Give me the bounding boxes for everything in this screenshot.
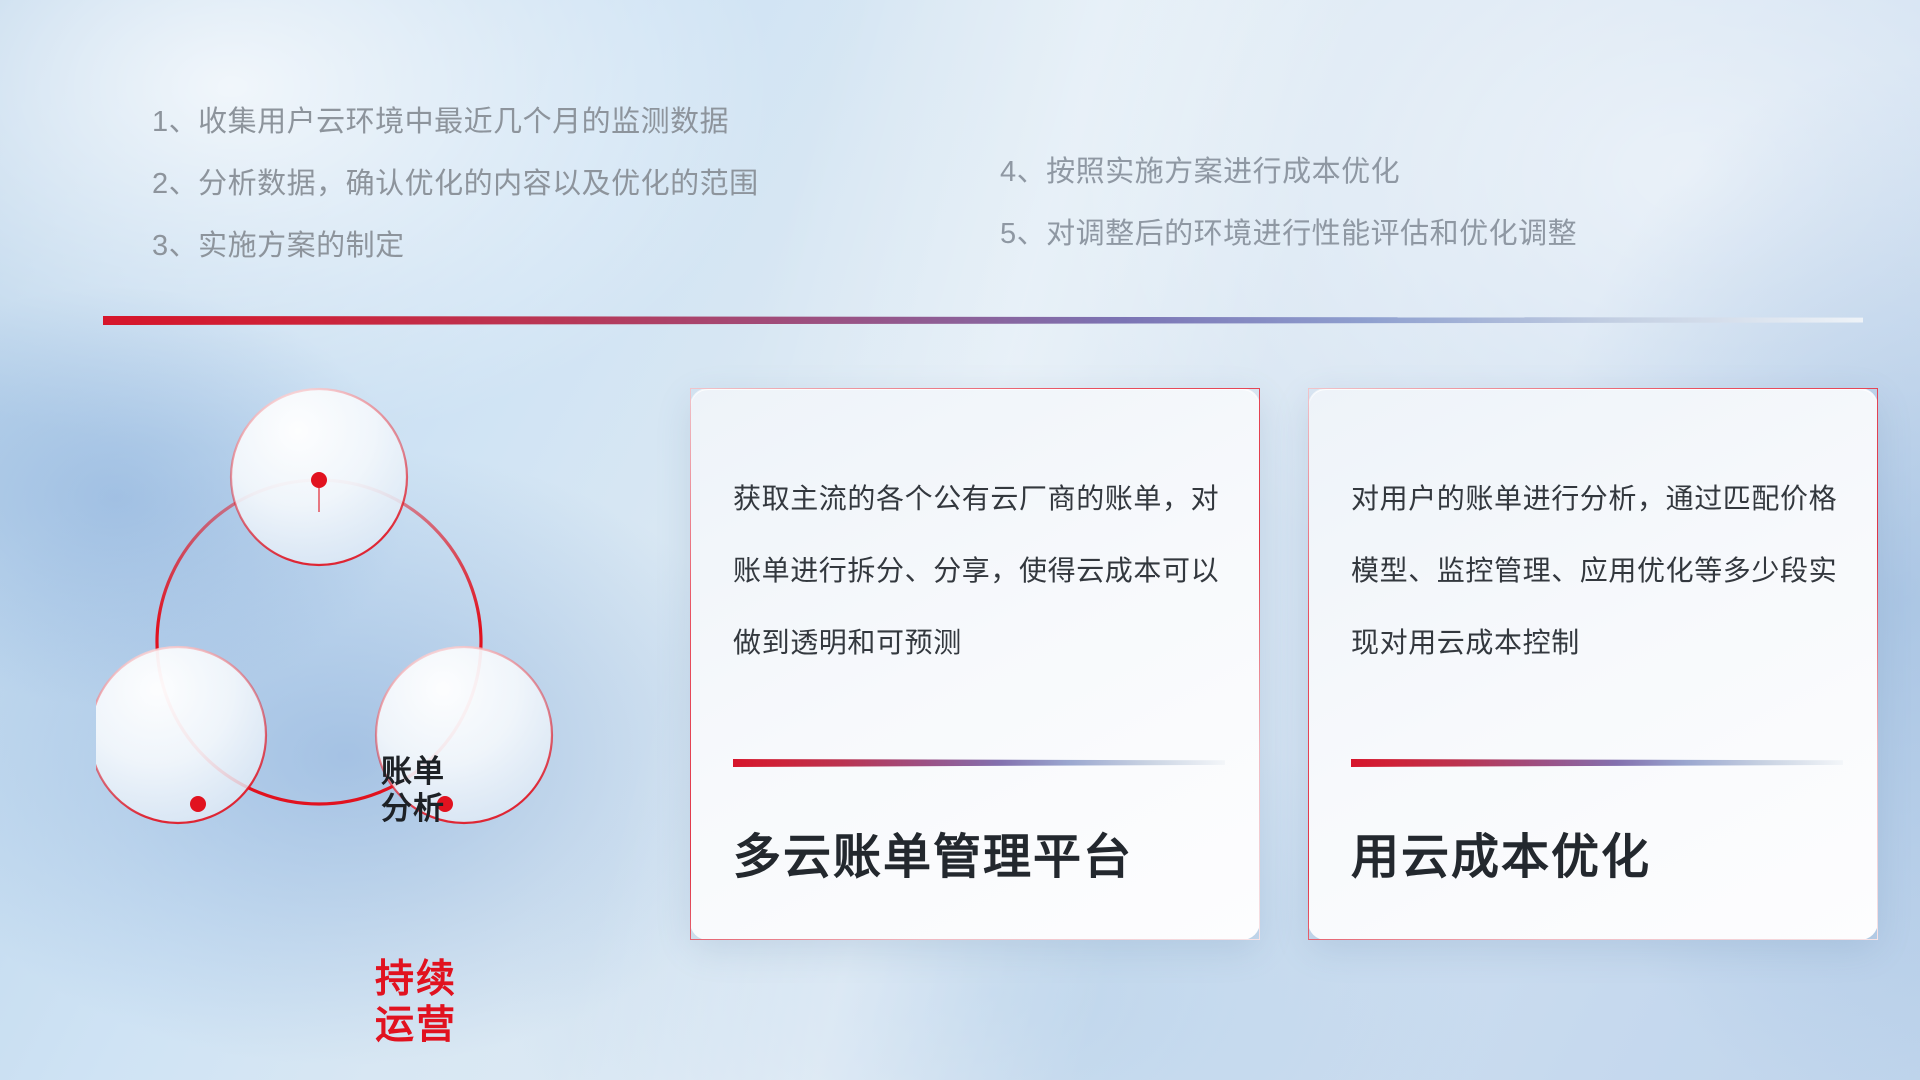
step-item-1: 1、收集用户云环境中最近几个月的监测数据	[152, 108, 759, 137]
info-card-cloud-cost-optimization[interactable]: 对用户的账单进行分析，通过匹配价格模型、监控管理、应用优化等多少段实现对用云成本…	[1308, 388, 1878, 940]
venn-diagram: 账单 分析 操作 运营 优化 策略 持续 运营	[96, 352, 656, 942]
venn-node-label-top: 账单 分析	[328, 754, 498, 827]
card-divider	[1351, 759, 1843, 767]
header-divider	[103, 316, 1863, 325]
step-item-2: 2、分析数据，确认优化的内容以及优化的范围	[152, 170, 759, 199]
step-item-5: 5、对调整后的环境进行性能评估和优化调整	[1000, 220, 1577, 249]
venn-connector-dot-bottom-left	[190, 796, 206, 812]
info-card-multicloud-billing[interactable]: 获取主流的各个公有云厂商的账单，对账单进行拆分、分享，使得云成本可以做到透明和可…	[690, 388, 1260, 940]
header-divider-bar	[103, 316, 1863, 325]
card-body-text: 获取主流的各个公有云厂商的账单，对账单进行拆分、分享，使得云成本可以做到透明和可…	[733, 463, 1225, 679]
venn-connector-dot-top	[311, 472, 327, 488]
step-item-4: 4、按照实施方案进行成本优化	[1000, 158, 1577, 187]
venn-node-bottom-left-circle	[96, 647, 266, 823]
venn-diagram-svg	[96, 352, 656, 942]
card-title: 多云账单管理平台	[733, 817, 1225, 887]
card-title: 用云成本优化	[1351, 817, 1843, 887]
step-item-3: 3、实施方案的制定	[152, 232, 759, 261]
card-body-text: 对用户的账单进行分析，通过匹配价格模型、监控管理、应用优化等多少段实现对用云成本…	[1351, 463, 1843, 679]
process-steps-right-column: 4、按照实施方案进行成本优化 5、对调整后的环境进行性能评估和优化调整	[1000, 158, 1577, 282]
process-steps-left-column: 1、收集用户云环境中最近几个月的监测数据 2、分析数据，确认优化的内容以及优化的…	[152, 108, 759, 294]
card-divider	[733, 759, 1225, 767]
venn-center-label: 持续 运营	[326, 957, 506, 1049]
